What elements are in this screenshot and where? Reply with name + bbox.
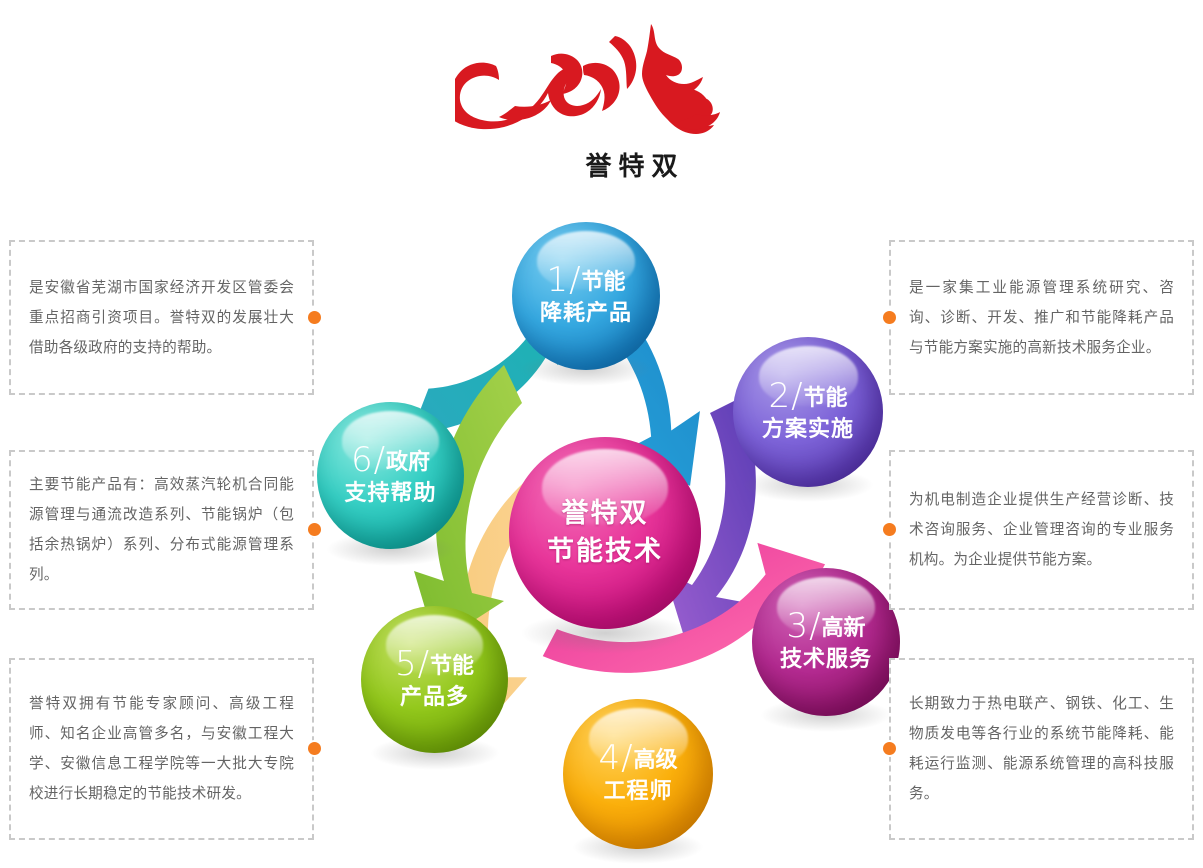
- connector-dot-left-2: [308, 523, 321, 536]
- node-sphere-2[interactable]: 2/节能 方案实施: [733, 337, 883, 487]
- info-box-right-1-text: 是一家集工业能源管理系统研究、咨询、诊断、开发、推广和节能降耗产品与节能方案实施…: [909, 273, 1174, 363]
- center-sphere[interactable]: 誉特双 节能技术: [509, 437, 701, 629]
- node-1-line2: 降耗产品: [540, 299, 632, 329]
- info-box-left-2: 主要节能产品有：高效蒸汽轮机合同能源管理与通流改造系列、节能锅炉（包括余热锅炉）…: [9, 450, 314, 610]
- info-box-right-3-text: 长期致力于热电联产、钢铁、化工、生物质发电等各行业的系统节能降耗、能耗运行监测、…: [909, 689, 1174, 809]
- info-box-right-2: 为机电制造企业提供生产经营诊断、技术咨询服务、企业管理咨询的专业服务机构。为企业…: [889, 450, 1194, 610]
- node-sphere-5[interactable]: 5/节能 产品多: [361, 606, 508, 753]
- node-2-line1: 节能: [804, 386, 848, 411]
- connector-dot-right-3: [883, 742, 896, 755]
- node-5-line1: 节能: [430, 654, 474, 679]
- connector-dot-right-1: [883, 311, 896, 324]
- logo-wordmark: 誉特双: [565, 146, 705, 183]
- info-box-left-3-text: 誉特双拥有节能专家顾问、高级工程师、知名企业高管多名，与安徽工程大学、安徽信息工…: [29, 689, 294, 809]
- node-3-number: 3: [786, 606, 809, 646]
- node-3-line2: 技术服务: [780, 645, 872, 675]
- info-box-right-2-text: 为机电制造企业提供生产经营诊断、技术咨询服务、企业管理咨询的专业服务机构。为企业…: [909, 485, 1174, 575]
- center-line2: 节能技术: [547, 533, 663, 571]
- node-4-number: 4: [598, 738, 621, 778]
- center-line1: 誉特双: [562, 495, 649, 533]
- node-6-line1: 政府: [386, 450, 430, 475]
- node-2-number: 2: [768, 376, 791, 416]
- node-3-line1: 高新: [822, 616, 866, 641]
- node-5-line2: 产品多: [400, 683, 469, 713]
- node-6-number: 6: [351, 440, 374, 480]
- node-2-line2: 方案实施: [762, 415, 854, 445]
- node-sphere-4[interactable]: 4/高级 工程师: [563, 699, 713, 849]
- info-box-left-1: 是安徽省芜湖市国家经济开发区管委会重点招商引资项目。誉特双的发展壮大借助各级政府…: [9, 240, 314, 395]
- node-4-line1: 高级: [634, 748, 678, 773]
- info-box-left-1-text: 是安徽省芜湖市国家经济开发区管委会重点招商引资项目。誉特双的发展壮大借助各级政府…: [29, 273, 294, 363]
- info-box-left-3: 誉特双拥有节能专家顾问、高级工程师、知名企业高管多名，与安徽工程大学、安徽信息工…: [9, 658, 314, 840]
- connector-dot-left-3: [308, 742, 321, 755]
- node-sphere-1[interactable]: 1/节能 降耗产品: [512, 222, 660, 370]
- brand-logo: 誉特双: [455, 18, 755, 188]
- info-box-left-2-text: 主要节能产品有：高效蒸汽轮机合同能源管理与通流改造系列、节能锅炉（包括余热锅炉）…: [29, 470, 294, 590]
- node-sphere-3[interactable]: 3/高新 技术服务: [752, 568, 900, 716]
- node-1-line1: 节能: [582, 270, 626, 295]
- node-4-line2: 工程师: [603, 777, 672, 807]
- red-dragon-logo-icon: [455, 18, 755, 148]
- connector-dot-right-2: [883, 523, 896, 536]
- node-1-number: 1: [546, 260, 569, 300]
- connector-dot-left-1: [308, 311, 321, 324]
- info-box-right-3: 长期致力于热电联产、钢铁、化工、生物质发电等各行业的系统节能降耗、能耗运行监测、…: [889, 658, 1194, 840]
- info-box-right-1: 是一家集工业能源管理系统研究、咨询、诊断、开发、推广和节能降耗产品与节能方案实施…: [889, 240, 1194, 395]
- node-6-line2: 支持帮助: [344, 479, 436, 509]
- node-sphere-6[interactable]: 6/政府 支持帮助: [317, 402, 464, 549]
- node-5-number: 5: [395, 644, 418, 684]
